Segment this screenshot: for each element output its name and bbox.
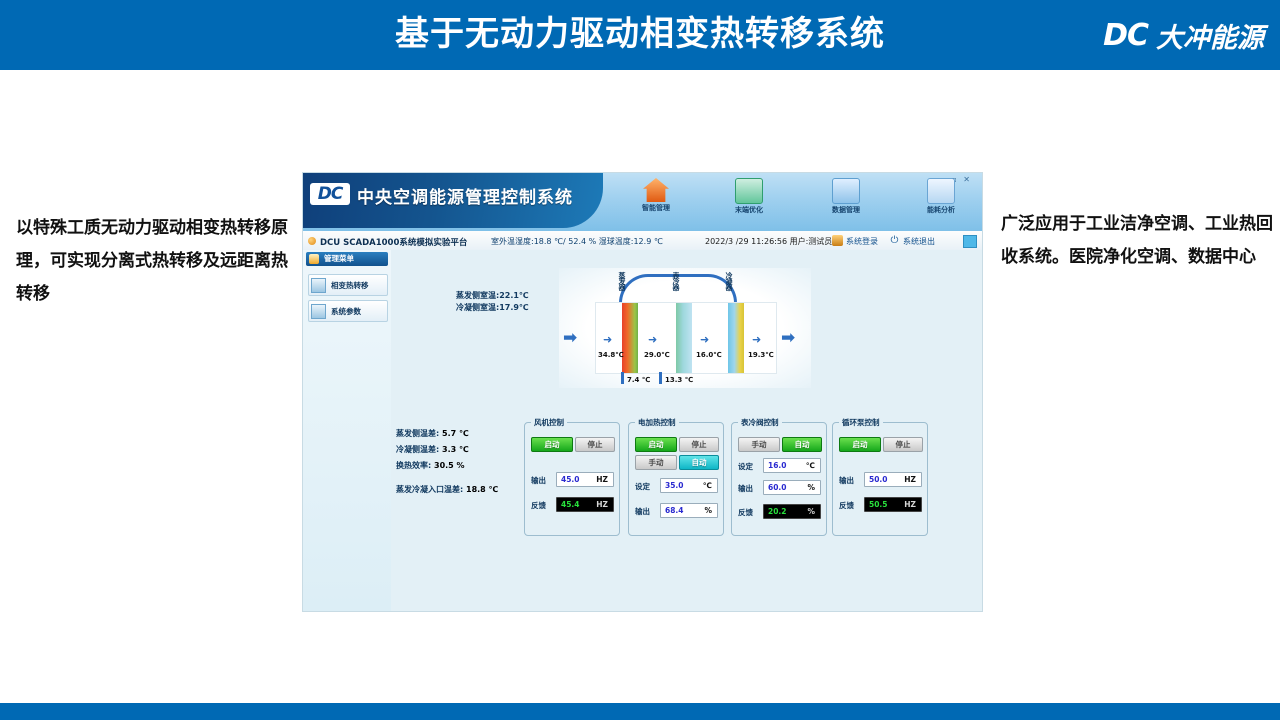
app-logo-mark: DC <box>310 183 350 205</box>
app-main-canvas: 蒸发侧室温:22.1℃ 冷凝侧室温:17.9℃ 蒸发器 表冷器 冷凝器 ➜ ➜ … <box>391 250 982 611</box>
segment-temp: 34.8℃ <box>598 351 624 359</box>
panel-title: 电加热控制 <box>635 417 679 428</box>
outdoor-conditions: 室外温湿度:18.8 ℃/ 52.4 % 湿球温度:12.9 ℃ <box>491 236 663 247</box>
panel-title: 风机控制 <box>531 417 567 428</box>
field-unit: ℃ <box>806 461 815 470</box>
heater-start-button[interactable]: 启动 <box>635 437 677 452</box>
valve-feedback-field: 20.2 % <box>763 504 821 519</box>
sidebar-item-label: 系统参数 <box>331 306 361 317</box>
airflow-arrow-icon: ➜ <box>700 333 709 346</box>
field-value: 50.5 <box>869 500 888 509</box>
nav-label: 能耗分析 <box>906 205 976 215</box>
page-title: 基于无动力驱动相变热转移系统 <box>0 6 1280 55</box>
readout-row: 冷凝侧温差: 3.3 ℃ <box>396 442 498 458</box>
brand-mark: DC <box>1103 18 1148 53</box>
slide-footer <box>0 703 1280 720</box>
heater-auto-button[interactable]: 自动 <box>679 455 719 470</box>
field-value: 68.4 <box>665 506 684 515</box>
company-logo: DC 大冲能源 <box>1103 16 1264 54</box>
app-system-name: 中央空调能源管理控制系统 <box>357 183 573 208</box>
nav-label: 末端优化 <box>714 205 784 215</box>
scada-screenshot: DC 中央空调能源管理控制系统 ─ ▫ ✕ 智能管理 末端优化 数据管理 能耗分… <box>302 172 983 612</box>
airflow-arrow-icon: ➜ <box>752 333 761 346</box>
panel-title: 表冷阀控制 <box>738 417 782 428</box>
system-login-link[interactable]: 系统登录 <box>846 236 878 247</box>
field-unit: % <box>807 483 815 492</box>
caption-right: 广泛应用于工业洁净空调、工业热回收系统。医院净化空调、数据中心 <box>1001 208 1279 274</box>
fan-stop-button[interactable]: 停止 <box>575 437 615 452</box>
field-value: 45.4 <box>561 500 580 509</box>
airflow-arrow-icon: ➜ <box>648 333 657 346</box>
folder-icon <box>832 178 860 204</box>
nav-item-data-management[interactable]: 数据管理 <box>811 178 881 215</box>
heater-setpoint-label: 设定 <box>635 481 650 492</box>
heater-output-field[interactable]: 68.4 % <box>660 503 718 518</box>
readout-label: 蒸发冷凝入口温差: <box>396 485 463 494</box>
heater-stop-button[interactable]: 停止 <box>679 437 719 452</box>
readout-label: 蒸发侧温差: <box>396 429 439 438</box>
panel-electric-heater-control: 电加热控制 启动 停止 手动 自动 设定 35.0 ℃ 输出 68.4 % <box>628 422 724 536</box>
pump-feedback-label: 反馈 <box>839 500 854 511</box>
nav-item-smart-management[interactable]: 智能管理 <box>621 178 691 213</box>
panel-cooling-valve-control: 表冷阀控制 手动 自动 设定 16.0 ℃ 输出 60.0 % 反馈 20.2 … <box>731 422 827 536</box>
condenser-coil <box>728 303 744 373</box>
sidebar-item-system-params[interactable]: 系统参数 <box>308 300 388 322</box>
field-value: 60.0 <box>768 483 787 492</box>
readout-value: 18.8 <box>466 485 486 494</box>
field-unit: % <box>704 506 712 515</box>
heater-manual-button[interactable]: 手动 <box>635 455 677 470</box>
segment-temp: 19.3℃ <box>748 351 774 359</box>
readout-unit: ℃ <box>459 429 469 438</box>
inlet-air-arrow-icon: ➡ <box>563 328 577 348</box>
fan-start-button[interactable]: 启动 <box>531 437 573 452</box>
evaporator-room-temp: 蒸发侧室温:22.1℃ <box>456 290 529 302</box>
bottom-temp: 13.3 ℃ <box>665 376 693 384</box>
field-unit: HZ <box>904 475 916 484</box>
app-statusbar: DCU SCADA1000系统模拟实验平台 室外温湿度:18.8 ℃/ 52.4… <box>303 231 982 251</box>
field-value: 50.0 <box>869 475 888 484</box>
nav-item-terminal-optimization[interactable]: 末端优化 <box>714 178 784 215</box>
system-logout-link[interactable]: 系统退出 <box>903 236 935 247</box>
valve-output-label: 输出 <box>738 483 753 494</box>
status-dot-icon <box>308 237 316 245</box>
outlet-air-arrow-icon: ➡ <box>781 328 795 348</box>
fan-feedback-field: 45.4 HZ <box>556 497 614 512</box>
valve-setpoint-label: 设定 <box>738 461 753 472</box>
sidebar-item-phase-change[interactable]: 相变热转移 <box>308 274 388 296</box>
valve-auto-button[interactable]: 自动 <box>782 437 822 452</box>
readout-value: 30.5 <box>434 461 454 470</box>
heat-transfer-diagram: 蒸发器 表冷器 冷凝器 ➜ ➜ ➜ ➜ 34.8℃ 29.0℃ 16.0℃ 19… <box>559 268 811 388</box>
brand-name: 大冲能源 <box>1156 16 1264 55</box>
app-titlebar: DC 中央空调能源管理控制系统 ─ ▫ ✕ 智能管理 末端优化 数据管理 能耗分… <box>303 173 982 231</box>
field-unit: HZ <box>596 500 608 509</box>
power-icon: ⏻ <box>889 235 900 246</box>
nav-label: 数据管理 <box>811 205 881 215</box>
slide-header: 基于无动力驱动相变热转移系统 DC 大冲能源 <box>0 0 1280 70</box>
valve-output-field[interactable]: 60.0 % <box>763 480 821 495</box>
readout-row: 换热效率: 30.5 % <box>396 458 498 474</box>
field-unit: HZ <box>904 500 916 509</box>
evaporator-label: 蒸发器 <box>617 272 627 290</box>
chart-icon <box>311 304 326 319</box>
nav-item-energy-analysis[interactable]: 能耗分析 <box>906 178 976 215</box>
field-value: 35.0 <box>665 481 684 490</box>
valve-setpoint-field[interactable]: 16.0 ℃ <box>763 458 821 473</box>
field-value: 16.0 <box>768 461 787 470</box>
readout-unit: ℃ <box>489 485 499 494</box>
user-icon <box>832 235 843 246</box>
home-icon <box>643 178 669 202</box>
heat-exchanger-duct: ➜ ➜ ➜ ➜ 34.8℃ 29.0℃ 16.0℃ 19.3℃ <box>595 302 777 374</box>
airflow-arrow-icon: ➜ <box>603 333 612 346</box>
sidebar-item-label: 相变热转移 <box>331 280 369 291</box>
evaporator-coil <box>622 303 638 373</box>
readout-label: 换热效率: <box>396 461 431 470</box>
readout-unit: % <box>457 461 465 470</box>
pump-output-label: 输出 <box>839 475 854 486</box>
report-icon <box>927 178 955 204</box>
app-brand-block: DC 中央空调能源管理控制系统 <box>303 173 603 228</box>
segment-temp: 29.0℃ <box>644 351 670 359</box>
nav-label: 智能管理 <box>621 203 691 213</box>
bottom-temp: 7.4 ℃ <box>627 376 650 384</box>
sidebar-header: 管理菜单 <box>306 252 388 266</box>
fan-feedback-label: 反馈 <box>531 500 546 511</box>
fan-output-label: 输出 <box>531 475 546 486</box>
app-sidebar: 管理菜单 相变热转移 系统参数 <box>303 250 392 611</box>
status-indicator <box>963 235 977 248</box>
panel-fan-control: 风机控制 启动 停止 输出 45.0 HZ 反馈 45.4 HZ <box>524 422 620 536</box>
valve-feedback-label: 反馈 <box>738 507 753 518</box>
field-unit: % <box>807 507 815 516</box>
fan-output-field[interactable]: 45.0 HZ <box>556 472 614 487</box>
sidebar-header-label: 管理菜单 <box>324 254 354 263</box>
readout-value: 3.3 <box>442 445 456 454</box>
field-unit: HZ <box>596 475 608 484</box>
readout-label: 冷凝侧温差: <box>396 445 439 454</box>
datetime-user: 2022/3 /29 11:26:56 用户:测试员 <box>705 236 832 247</box>
valve-manual-button[interactable]: 手动 <box>738 437 780 452</box>
panel-circulation-pump-control: 循环泵控制 启动 停止 输出 50.0 HZ 反馈 50.5 HZ <box>832 422 928 536</box>
field-unit: ℃ <box>703 481 712 490</box>
pump-output-field[interactable]: 50.0 HZ <box>864 472 922 487</box>
cooling-coil-label: 表冷器 <box>671 272 681 290</box>
caption-left: 以特殊工质无动力驱动相变热转移原理，可实现分离式热转移及远距离热转移 <box>16 212 294 311</box>
panel-title: 循环泵控制 <box>839 417 883 428</box>
pump-start-button[interactable]: 启动 <box>839 437 881 452</box>
heater-setpoint-field[interactable]: 35.0 ℃ <box>660 478 718 493</box>
field-value: 45.0 <box>561 475 580 484</box>
readout-row: 蒸发侧温差: 5.7 ℃ <box>396 426 498 442</box>
chart-icon <box>311 278 326 293</box>
readout-value: 5.7 <box>442 429 456 438</box>
room-temperatures: 蒸发侧室温:22.1℃ 冷凝侧室温:17.9℃ <box>456 290 529 314</box>
pump-stop-button[interactable]: 停止 <box>883 437 923 452</box>
readout-row: 蒸发冷凝入口温差: 18.8 ℃ <box>396 482 498 498</box>
segment-temp: 16.0℃ <box>696 351 722 359</box>
readout-unit: ℃ <box>459 445 469 454</box>
recycle-icon <box>735 178 763 204</box>
pump-feedback-field: 50.5 HZ <box>864 497 922 512</box>
cooling-coil <box>676 303 692 373</box>
performance-readouts: 蒸发侧温差: 5.7 ℃ 冷凝侧温差: 3.3 ℃ 换热效率: 30.5 % 蒸… <box>396 426 498 498</box>
heater-output-label: 输出 <box>635 506 650 517</box>
menu-icon <box>309 254 319 264</box>
field-value: 20.2 <box>768 507 787 516</box>
condenser-room-temp: 冷凝侧室温:17.9℃ <box>456 302 529 314</box>
platform-name: DCU SCADA1000系统模拟实验平台 <box>320 236 467 248</box>
condenser-label: 冷凝器 <box>724 272 734 290</box>
